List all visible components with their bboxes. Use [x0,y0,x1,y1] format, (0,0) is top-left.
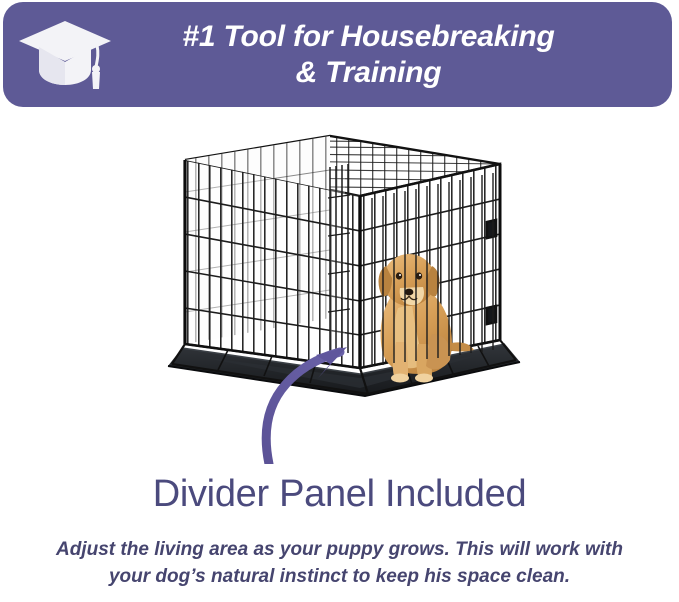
graduation-cap-icon [17,15,113,93]
page-subcopy-line-1: Adjust the living area as your puppy gro… [0,536,679,563]
banner-headline: #1 Tool for Housebreaking & Training [113,19,672,91]
banner-headline-line-2: & Training [113,55,624,91]
page-subcopy: Adjust the living area as your puppy gro… [0,536,679,590]
promo-banner: #1 Tool for Housebreaking & Training [3,2,672,107]
dog-crate-with-puppy-photo [0,112,679,464]
page-subcopy-line-2: your dog’s natural instinct to keep his … [0,563,679,590]
banner-headline-line-1: #1 Tool for Housebreaking [113,19,624,55]
page-headline: Divider Panel Included [0,472,679,516]
